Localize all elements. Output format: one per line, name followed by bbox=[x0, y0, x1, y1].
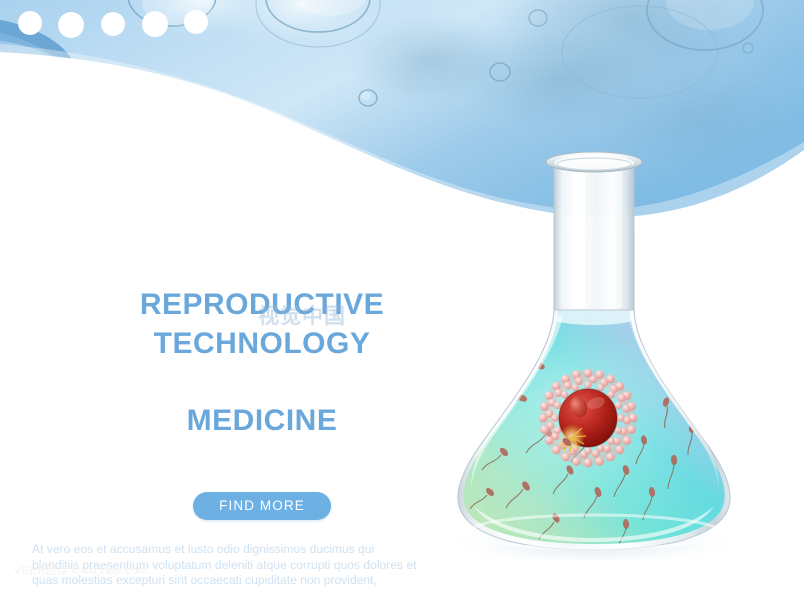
cta-wrapper: FIND MORE bbox=[32, 492, 492, 520]
bubble-ring bbox=[562, 6, 718, 98]
headline-line-1: REPRODUCTIVE TECHNOLOGY bbox=[32, 286, 492, 363]
water-blob bbox=[440, 18, 680, 142]
find-more-button[interactable]: FIND MORE bbox=[193, 492, 331, 520]
sperm-cell bbox=[480, 338, 512, 352]
bubble-ring-small bbox=[529, 10, 547, 26]
conical-flask-illustration bbox=[430, 140, 775, 560]
bubble-ring bbox=[266, 0, 370, 32]
water-blob bbox=[205, 0, 395, 58]
neck-inner-sheen bbox=[572, 166, 585, 308]
headline-line-2: MEDICINE bbox=[32, 402, 492, 440]
water-blob bbox=[120, 0, 280, 41]
ovum bbox=[538, 368, 638, 468]
neck-inner-sheen-2 bbox=[615, 166, 622, 308]
bubble-ring-small bbox=[359, 90, 377, 106]
text-column: REPRODUCTIVE TECHNOLOGY MEDICINE FIND MO… bbox=[32, 248, 492, 590]
white-dot bbox=[184, 10, 208, 34]
bubble-ring-small bbox=[361, 92, 371, 100]
water-blob bbox=[480, 0, 780, 110]
poster-canvas: REPRODUCTIVE TECHNOLOGY MEDICINE FIND MO… bbox=[0, 0, 804, 590]
wave-swash bbox=[0, 18, 78, 72]
bubble-ring bbox=[666, 0, 754, 30]
bubble-ring bbox=[128, 0, 216, 26]
white-dot bbox=[58, 12, 84, 38]
white-dot bbox=[142, 11, 168, 37]
water-blob bbox=[340, 10, 520, 110]
veer-watermark: VEER图库 www.veer.com bbox=[14, 562, 148, 578]
bubble-ring bbox=[256, 0, 380, 47]
sperm-cell bbox=[466, 373, 498, 388]
bubble-ring-small bbox=[743, 43, 753, 53]
bubble-ring bbox=[647, 0, 763, 50]
bubble-ring bbox=[292, 0, 368, 16]
white-dot bbox=[18, 11, 42, 35]
sperm-cell bbox=[510, 326, 539, 336]
bubble-ring bbox=[142, 0, 214, 26]
sperm-cell bbox=[454, 406, 484, 424]
wave-swash-soft bbox=[0, 30, 92, 100]
white-dot bbox=[101, 12, 125, 36]
fertilization-liquid bbox=[450, 307, 750, 558]
page-title: REPRODUCTIVE TECHNOLOGY MEDICINE bbox=[32, 248, 492, 478]
bubble-ring-small bbox=[490, 63, 510, 81]
